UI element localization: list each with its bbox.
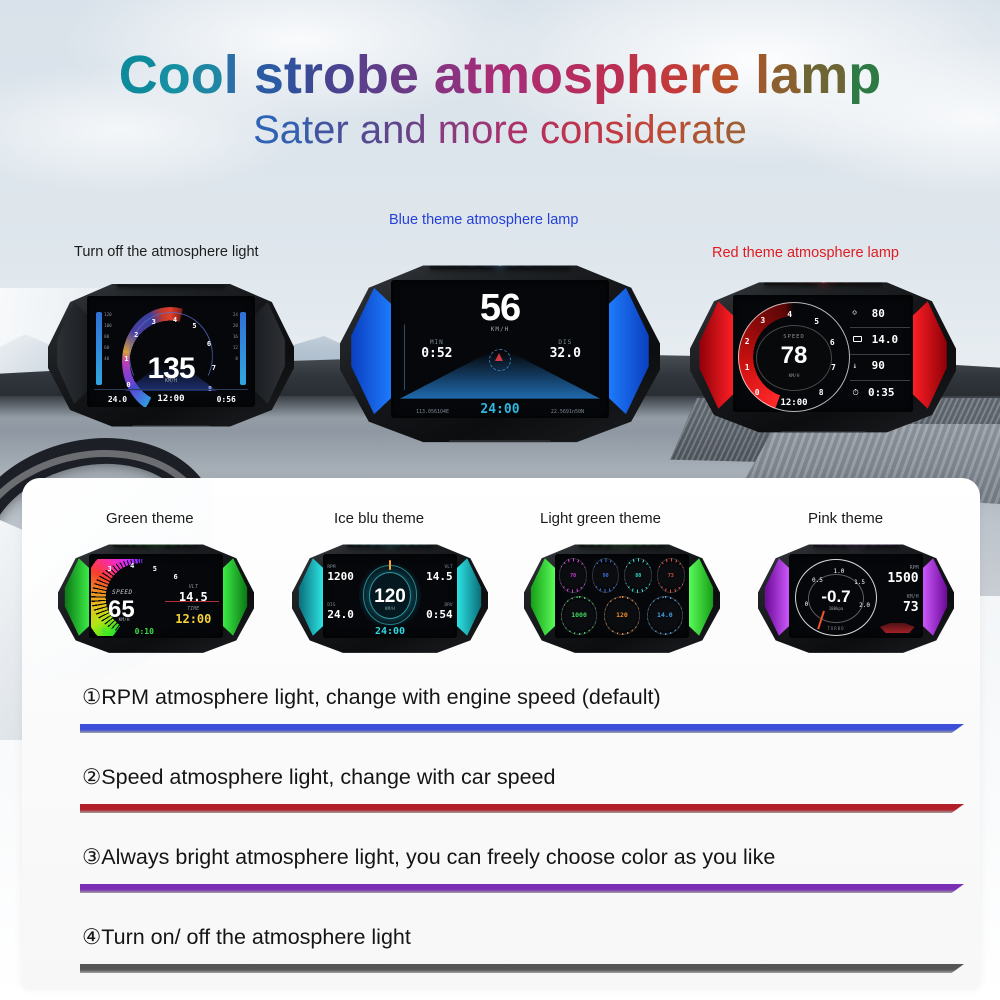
stand-pink <box>825 652 888 669</box>
feature-number: ① <box>82 685 101 709</box>
foot-left-green: 9.0 <box>101 627 115 636</box>
led-visor-ice-blue <box>347 532 433 547</box>
feature-divider-3 <box>80 884 964 893</box>
title-letter <box>239 45 254 105</box>
label-turn-off-light: Turn off the atmosphere light <box>74 244 259 260</box>
title-letter: e <box>656 108 678 152</box>
title-letter <box>427 108 438 152</box>
side-wing-left-pink <box>765 558 790 636</box>
side-wing-left-light-green <box>531 558 556 636</box>
large-gauge-value: 14.0 <box>647 596 684 635</box>
title-letter: o <box>560 108 582 152</box>
hud-device-green: 3 4 5 6 SPEED 65 KM/H VLT 14.5 TIME 12:0… <box>58 540 254 654</box>
led-strip-ice-blue <box>354 540 426 544</box>
title-letter: r <box>335 108 348 152</box>
title-letter: C <box>119 45 158 105</box>
feature-number: ③ <box>82 845 101 869</box>
screen-ice-blue: 120 KM/H RPM 1200 VLT 14.5 DIS 24.0 <box>323 554 456 638</box>
hud-device-light-green: 70908073100012014.0 <box>524 540 720 654</box>
title-letter: o <box>323 45 356 105</box>
feature-bar <box>80 724 964 733</box>
foot-plate-light-green <box>577 668 667 677</box>
feature-divider-4 <box>80 964 964 973</box>
large-gauge-1: 120 <box>604 596 641 635</box>
title-letter: o <box>471 108 493 152</box>
small-gauge-0: 70 <box>559 558 587 593</box>
hud-device-ice-blue: 120 KM/H RPM 1200 VLT 14.5 DIS 24.0 <box>292 540 488 654</box>
title-letter: a <box>691 108 713 152</box>
title-letter: o <box>158 45 191 105</box>
dis-readout-ice-blue: DIS 24.0 <box>327 603 359 621</box>
speed-unit-red: KM/H <box>756 374 832 379</box>
title-letter: o <box>530 45 563 105</box>
title-letter: r <box>678 108 691 152</box>
feature-text: Always bright atmosphere light, you can … <box>101 845 775 869</box>
title-letter: d <box>633 108 655 152</box>
battery-icon <box>853 336 862 342</box>
large-gauge-0: 1000 <box>561 596 598 635</box>
clock-ice-blue: 24:00 <box>323 626 456 637</box>
feature-item-2: ②Speed atmosphere light, change with car… <box>82 765 555 790</box>
water-temp-icon: ☺ <box>853 309 857 317</box>
large-gauge-value: 120 <box>604 596 641 635</box>
feature-text: Turn on/ off the atmosphere light <box>101 925 411 949</box>
dis-label-blue: DIS <box>535 339 596 346</box>
title-letter: h <box>626 45 659 105</box>
side-wing-left-blue <box>351 288 393 414</box>
led-strip-red <box>774 276 872 282</box>
theme-label-light-green: Light green theme <box>540 510 661 527</box>
large-gauge-row: 100012014.0 <box>561 596 684 635</box>
speed-label-red: SPEED <box>756 334 832 340</box>
speed-unit-off: KM/H <box>87 378 254 384</box>
feature-bar <box>80 804 964 813</box>
title-letter: a <box>434 45 464 105</box>
car-graphic-icon <box>880 623 915 633</box>
time-readout-green: TIME 12:00 <box>169 606 217 626</box>
side-wing-right-pink <box>922 558 947 636</box>
title-letter: t <box>284 45 302 105</box>
oil-temp-icon: ↓ <box>853 361 858 370</box>
title-letter: r <box>689 45 710 105</box>
title-letter: m <box>438 108 471 152</box>
hud-device-red: 0 1 2 3 4 5 6 7 8 SPEED 78 KM/H 12:00 <box>690 276 956 434</box>
side-wing-right-light-green <box>688 558 713 636</box>
drv-readout-ice-blue: DRV 0:54 <box>421 603 453 621</box>
drive-time-value-red: 0:35 <box>868 386 895 399</box>
screen-red: 0 1 2 3 4 5 6 7 8 SPEED 78 KM/H 12:00 <box>733 295 914 412</box>
title-letter: t <box>302 108 313 152</box>
theme-label-green: Green theme <box>106 510 194 527</box>
title-letter <box>419 45 434 105</box>
screen-blue: 56 KM/H MIN 0:52 DIS 32.0 113.0561O4E <box>391 280 609 418</box>
led-visor-pink <box>813 532 899 547</box>
title-letter: m <box>482 45 530 105</box>
feature-number: ④ <box>82 925 101 949</box>
clock-red: 12:00 <box>756 398 832 408</box>
title-letter <box>740 45 755 105</box>
vlt-readout-ice-blue: VLT 14.5 <box>421 565 453 583</box>
feature-divider-1 <box>80 724 964 733</box>
multi-gauge-grid: 70908073100012014.0 <box>555 554 688 638</box>
small-gauge-3: 73 <box>657 558 685 593</box>
led-strip-light-green <box>586 540 658 544</box>
clock-blue: 24:00 <box>467 402 532 417</box>
feature-text: RPM atmosphere light, change with engine… <box>101 685 660 709</box>
title-letter: p <box>593 45 626 105</box>
theme-label-ice-blue: Ice blu theme <box>334 510 424 527</box>
boost-unit-pink: 100kpa <box>808 606 864 611</box>
speed-unit-green: KM/H <box>119 618 130 623</box>
feature-bar <box>80 964 964 973</box>
side-wing-right-red <box>912 301 947 408</box>
small-gauge-value: 73 <box>657 558 685 593</box>
coord-right-blue: 22.5691n50N <box>535 409 600 415</box>
side-wing-right-green <box>222 558 247 636</box>
hud-device-blue: 56 KM/H MIN 0:52 DIS 32.0 113.0561O4E <box>340 258 660 444</box>
title-letter <box>349 108 360 152</box>
led-strip-green <box>120 540 192 544</box>
title-letter: a <box>280 108 302 152</box>
hud-device-off: 120100806040 242016128 0 1 2 3 4 <box>48 278 294 428</box>
foot-plate-ice-blue <box>345 668 435 677</box>
side-wing-left-red <box>699 301 734 408</box>
title-letter: n <box>582 108 604 152</box>
large-gauge-value: 1000 <box>561 596 598 635</box>
title-letter: a <box>770 45 800 105</box>
bottom-left-off: 24.0 <box>97 395 137 404</box>
title-letter: s <box>254 45 284 105</box>
title-letter: r <box>302 45 323 105</box>
label-red-theme: Red theme atmosphere lamp <box>712 245 899 261</box>
drive-time-icon: ⏱ <box>853 388 859 398</box>
screen-off: 120100806040 242016128 0 1 2 3 4 <box>87 296 254 407</box>
speed-readout-pink: KM/H 73 <box>879 594 919 615</box>
screen-light-green: 70908073100012014.0 <box>555 554 688 638</box>
small-gauge-value: 80 <box>624 558 652 593</box>
side-wing-right-blue <box>607 288 649 414</box>
bottom-right-off: 0:56 <box>206 395 246 404</box>
stand-light-green <box>591 652 654 669</box>
large-gauge-2: 14.0 <box>647 596 684 635</box>
dis-readout-blue: DIS 32.0 <box>535 339 596 361</box>
foot-plate-pink <box>811 668 901 677</box>
title-letter: l <box>755 45 770 105</box>
screen-green: 3 4 5 6 SPEED 65 KM/H VLT 14.5 TIME 12:0… <box>89 554 222 638</box>
feature-text: Speed atmosphere light, change with car … <box>101 765 555 789</box>
side-wing-left-off <box>57 302 89 404</box>
title-letter: e <box>313 108 335 152</box>
speed-value-ice-blue: 120 <box>363 586 416 608</box>
title-letter: s <box>563 45 593 105</box>
bottom-clock-off: 12:00 <box>144 394 198 404</box>
title-letter: o <box>191 45 224 105</box>
title-letter: e <box>710 45 740 105</box>
title-letter: l <box>224 45 239 105</box>
speed-unit-ice-blue: KM/H <box>363 606 416 611</box>
page-subtitle: Sater and more considerate <box>0 108 1000 152</box>
title-letter: a <box>360 108 382 152</box>
side-wing-left-ice-blue <box>299 558 324 636</box>
title-letter: m <box>800 45 848 105</box>
feature-number: ② <box>82 765 101 789</box>
page-title: Cool strobe atmosphere lamp <box>0 47 1000 104</box>
screen-pink: 0 0.5 1.0 1.5 2.0 -0.7 100kpa TURBO RPM … <box>789 554 922 638</box>
title-letter: n <box>382 108 404 152</box>
led-strip-off <box>126 278 217 283</box>
title-letter: r <box>493 108 506 152</box>
title-letter: e <box>389 45 419 105</box>
led-visor-light-green <box>579 532 665 547</box>
title-letter: c <box>540 108 560 152</box>
battery-value-red: 14.0 <box>872 333 899 346</box>
title-letter: t <box>714 108 725 152</box>
theme-panel: Green theme Ice blu theme Light green th… <box>22 478 980 990</box>
water-temp-value-red: 80 <box>872 307 885 320</box>
side-wing-left-green <box>65 558 90 636</box>
title-letter: s <box>605 108 625 152</box>
rpm-readout-pink: RPM 1500 <box>879 565 919 586</box>
title-letter: t <box>464 45 482 105</box>
oil-temp-value-red: 90 <box>872 359 885 372</box>
small-gauge-value: 70 <box>559 558 587 593</box>
side-wing-right-off <box>253 302 285 404</box>
feature-item-4: ④Turn on/ off the atmosphere light <box>82 925 411 950</box>
stand-ice-blue <box>359 652 422 669</box>
speed-value-red: 78 <box>756 342 832 370</box>
feature-item-3: ③Always bright atmosphere light, you can… <box>82 845 775 870</box>
speed-value-blue: 56 <box>391 287 609 330</box>
small-gauge-row: 70908073 <box>559 558 684 593</box>
foot-right-green: 0:10 <box>135 627 154 636</box>
title-letter: e <box>659 45 689 105</box>
side-wing-right-ice-blue <box>456 558 481 636</box>
turbo-label-pink: TURBO <box>808 626 864 631</box>
small-gauge-1: 90 <box>592 558 620 593</box>
coord-left-blue: 113.0561O4E <box>400 409 465 415</box>
boost-value-pink: -0.7 <box>808 587 864 607</box>
rpm-readout-ice-blue: RPM 1200 <box>327 565 359 583</box>
hud-device-pink: 0 0.5 1.0 1.5 2.0 -0.7 100kpa TURBO RPM … <box>758 540 954 654</box>
small-gauge-value: 90 <box>592 558 620 593</box>
small-gauge-2: 80 <box>624 558 652 593</box>
title-letter: p <box>848 45 881 105</box>
feature-divider-2 <box>80 804 964 813</box>
title-letter <box>529 108 540 152</box>
feature-item-1: ①RPM atmosphere light, change with engin… <box>82 685 661 710</box>
led-strip-blue <box>441 258 559 265</box>
title-letter: e <box>507 108 529 152</box>
led-strip-pink <box>820 540 892 544</box>
feature-bar <box>80 884 964 893</box>
label-blue-theme: Blue theme atmosphere lamp <box>389 212 578 228</box>
title-letter: b <box>356 45 389 105</box>
title-letter: d <box>404 108 426 152</box>
title-letter: S <box>253 108 280 152</box>
theme-label-pink: Pink theme <box>808 510 883 527</box>
title-letter: e <box>725 108 747 152</box>
